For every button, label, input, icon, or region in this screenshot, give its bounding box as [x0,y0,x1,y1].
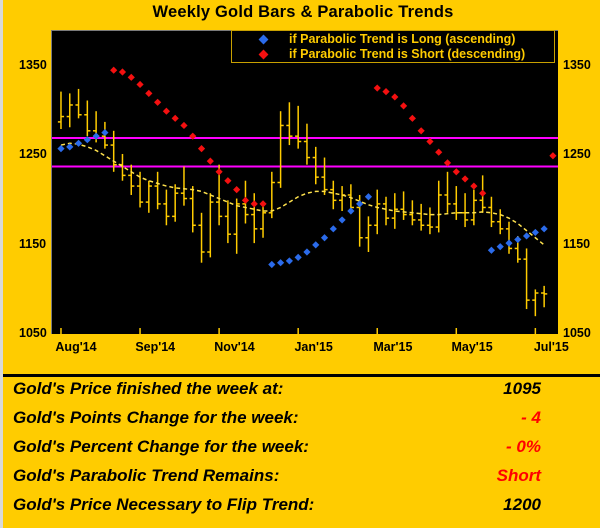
sar-long-marker [514,236,521,243]
sar-short-marker [435,149,442,156]
sar-short-marker [400,102,407,109]
sar-short-marker [418,127,425,134]
summary-row: Gold's Price finished the week at:1095 [3,379,600,408]
ohlc-bar [155,172,161,209]
sar-long-marker [497,243,504,250]
sar-short-marker [119,68,126,75]
sar-short-marker [391,93,398,100]
x-axis-tick-label: Jan'15 [294,340,332,354]
sar-long-marker [101,129,108,136]
sar-short-marker [154,99,161,106]
ohlc-bar [163,190,169,226]
sar-short-marker [180,122,187,129]
summary-row-value: 1200 [503,495,600,515]
ohlc-bar [225,200,231,243]
y-axis-tick-label: 1350 [563,59,591,72]
sar-long-marker [277,259,284,266]
sar-short-marker [163,108,170,115]
summary-row-value: Short [497,466,600,486]
sar-short-marker [426,138,433,145]
ohlc-bar [58,92,64,129]
ohlc-bar [172,184,178,221]
ohlc-bar [497,209,503,234]
ohlc-bar [181,166,187,205]
sar-long-marker [312,241,319,248]
summary-row-value: - 4 [521,408,600,428]
ohlc-bar [330,181,336,210]
ohlc-bar [453,186,459,220]
ohlc-bar [383,197,389,226]
ohlc-bar [339,186,345,211]
red-diamond-icon [259,50,269,60]
ohlc-bar [260,204,266,238]
sar-long-marker [286,257,293,264]
sar-short-marker [172,115,179,122]
summary-row: Gold's Price Necessary to Flip Trend:120… [3,495,600,524]
ohlc-bar [137,172,143,208]
y-axis-tick-label: 1250 [563,148,591,161]
ohlc-bar [462,193,468,227]
ohlc-bar [146,181,152,213]
ohlc-bar [400,191,406,220]
y-axis-tick-label: 1250 [19,148,47,161]
blue-diamond-icon [259,35,269,45]
sar-short-marker [409,115,416,122]
legend-label-long: if Parabolic Trend is Long (ascending) [289,32,515,47]
summary-table: Gold's Price finished the week at:1095Go… [3,379,600,524]
ohlc-bar [365,216,371,252]
sar-long-marker [339,216,346,223]
sar-short-marker [470,182,477,189]
sar-short-marker [207,158,214,165]
sar-long-marker [303,248,310,255]
ohlc-bar [374,190,380,235]
moving-average-line [61,143,544,245]
sar-short-marker [259,200,266,207]
sar-short-marker [224,177,231,184]
sar-short-marker [453,168,460,175]
y-axis-tick-label: 1050 [563,327,591,340]
summary-row: Gold's Points Change for the week:- 4 [3,408,600,437]
sar-long-marker [541,225,548,232]
gold-parabolic-chart-page: Weekly Gold Bars & Parabolic Trends 1050… [0,0,600,528]
sar-short-marker [128,74,135,81]
ohlc-bar [523,248,529,309]
summary-row: Gold's Percent Change for the week:- 0% [3,437,600,466]
ohlc-bar [418,204,424,231]
sar-long-marker [532,229,539,236]
sar-long-marker [505,240,512,247]
summary-row-label: Gold's Parabolic Trend Remains: [3,466,279,486]
sar-long-marker [488,247,495,254]
ohlc-bar [278,111,284,188]
x-axis-tick-label: Nov'14 [214,340,255,354]
sar-short-marker [233,186,240,193]
page-title: Weekly Gold Bars & Parabolic Trends [3,3,600,22]
price-chart-svg [52,31,558,334]
legend-item-short: if Parabolic Trend is Short (descending) [236,47,550,62]
sar-long-marker [321,234,328,241]
sar-short-marker [382,88,389,95]
ohlc-bar [471,190,477,226]
sar-long-marker [330,225,337,232]
ohlc-bar [67,93,73,127]
chart-legend: if Parabolic Trend is Long (ascending) i… [231,30,555,63]
summary-row-label: Gold's Percent Change for the week: [3,437,309,457]
sar-short-marker [110,67,117,74]
sar-short-marker [549,152,556,159]
sar-long-marker [268,261,275,268]
sar-short-marker [444,159,451,166]
ohlc-bar [506,222,512,254]
ohlc-bar [321,158,327,195]
sar-long-marker [365,193,372,200]
summary-row-value: - 0% [506,437,600,457]
sar-long-marker [356,200,363,207]
ohlc-bar [84,101,90,137]
y-axis-tick-label: 1150 [19,238,46,251]
legend-item-long: if Parabolic Trend is Long (ascending) [236,32,550,47]
summary-row-label: Gold's Price finished the week at: [3,379,283,399]
ohlc-bar [190,186,196,232]
x-axis-tick-label: Sep'14 [135,340,175,354]
ohlc-bar [427,207,433,234]
sar-long-marker [347,207,354,214]
chart-plot-area [51,30,558,334]
sar-short-marker [216,168,223,175]
ohlc-bar [75,89,81,118]
sar-short-marker [374,84,381,91]
summary-row-label: Gold's Price Necessary to Flip Trend: [3,495,314,515]
ohlc-bar [198,213,204,263]
x-axis-tick-label: Mar'15 [373,340,412,354]
x-axis-tick-label: Jul'15 [534,340,569,354]
sar-long-marker [75,140,82,147]
sar-short-marker [242,197,249,204]
sar-short-marker [461,175,468,182]
ohlc-bar [436,181,442,233]
ohlc-bar [304,124,310,165]
x-axis-tick-label: May'15 [451,340,492,354]
sar-short-marker [136,81,143,88]
sar-long-marker [66,143,73,150]
summary-row: Gold's Parabolic Trend Remains:Short [3,466,600,495]
sar-short-marker [198,145,205,152]
y-axis-tick-label: 1150 [563,238,590,251]
y-axis-tick-label: 1050 [19,327,47,340]
sar-short-marker [251,200,258,207]
section-divider [3,374,600,377]
ohlc-bar [541,286,547,307]
ohlc-bar [444,172,450,213]
sar-long-marker [57,145,64,152]
sar-short-marker [145,90,152,97]
ohlc-bar [532,289,538,316]
summary-row-label: Gold's Points Change for the week: [3,408,299,428]
ohlc-bar [128,165,134,195]
sar-long-marker [295,254,302,261]
legend-label-short: if Parabolic Trend is Short (descending) [289,47,525,62]
ohlc-bar [295,106,301,149]
y-axis-tick-label: 1350 [19,59,47,72]
ohlc-bar [207,193,213,257]
summary-row-value: 1095 [503,379,600,399]
sar-short-marker [479,190,486,197]
x-axis-tick-label: Aug'14 [55,340,96,354]
